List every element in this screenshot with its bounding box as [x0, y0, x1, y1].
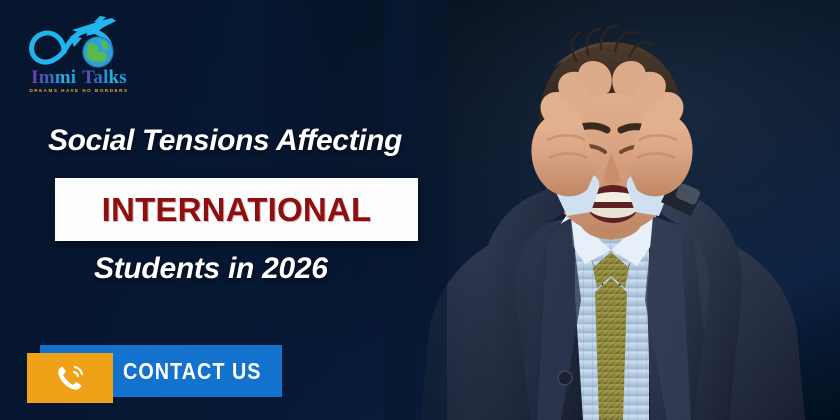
- headline-line-3: Students in 2026: [94, 250, 328, 288]
- cta-icon-badge: [27, 353, 113, 403]
- promo-banner: ImmiTalks DREAMS HAVE NO BORDERS Social …: [0, 0, 840, 420]
- cta-label: CONTACT US: [123, 345, 262, 397]
- headline-block: Social Tensions Affecting INTERNATIONAL …: [48, 122, 448, 160]
- immi-talks-logo[interactable]: ImmiTalks DREAMS HAVE NO BORDERS: [20, 14, 138, 100]
- headline-line-2: INTERNATIONAL: [102, 193, 372, 227]
- logo-word-immi: Immi: [31, 68, 76, 88]
- headline-highlight-band: INTERNATIONAL: [55, 178, 418, 241]
- logo-word-talks: Talks: [76, 68, 127, 88]
- headline-line-1: Social Tensions Affecting: [48, 122, 448, 160]
- logo-wordmark: ImmiTalks: [20, 68, 138, 88]
- phone-ringing-icon: [53, 361, 87, 395]
- infinity-plane-globe-icon: [20, 14, 138, 72]
- contact-us-button[interactable]: CONTACT US: [27, 345, 282, 397]
- logo-tagline: DREAMS HAVE NO BORDERS: [20, 88, 138, 93]
